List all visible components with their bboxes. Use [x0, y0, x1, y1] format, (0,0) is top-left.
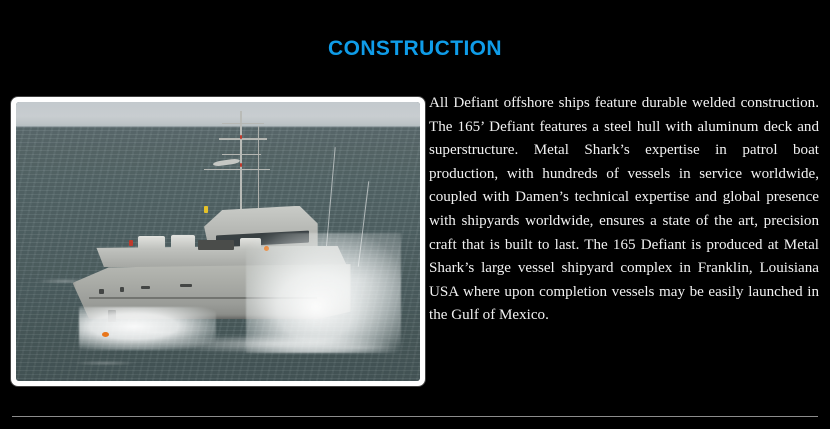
- page-title: CONSTRUCTION: [0, 36, 830, 62]
- bow-buoy: [102, 332, 109, 337]
- hull-port-1: [99, 289, 104, 294]
- vessel-photo: [16, 102, 420, 381]
- vessel-photo-frame: [11, 97, 425, 386]
- main-mast: [240, 111, 242, 209]
- hull-port-2: [120, 287, 124, 292]
- mast-yard-mid: [219, 138, 267, 139]
- deck-mast-light: [204, 206, 208, 213]
- deck-container: [198, 240, 234, 251]
- horizon-line: [16, 125, 420, 127]
- content-row: All Defiant offshore ships feature durab…: [0, 92, 830, 392]
- deck-equipment-2: [171, 235, 195, 250]
- patrol-vessel: [73, 200, 372, 353]
- construction-section: CONSTRUCTION: [0, 0, 830, 429]
- hull-port-3: [141, 286, 150, 289]
- section-divider: [12, 416, 818, 417]
- mast-yard-upper: [222, 123, 264, 124]
- wake: [162, 335, 389, 353]
- sky: [16, 102, 420, 126]
- mast-light-red-lower: [240, 163, 242, 167]
- mast-yard-base: [204, 169, 270, 170]
- deck-marker-red: [129, 240, 133, 246]
- mast-light-red: [240, 135, 242, 139]
- body-paragraph: All Defiant offshore ships feature durab…: [429, 92, 819, 328]
- deck-equipment-1: [138, 236, 165, 250]
- mast-yard-lower: [222, 154, 261, 155]
- hull-marking: [180, 284, 192, 287]
